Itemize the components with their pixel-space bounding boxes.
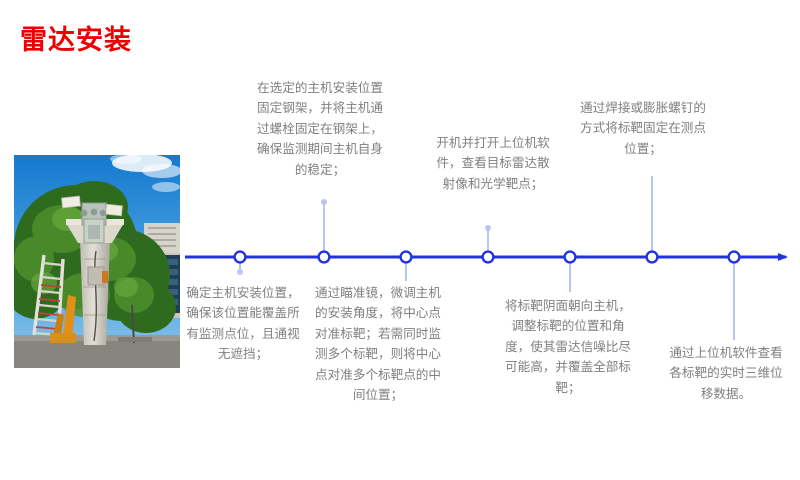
timeline-node-7 <box>729 252 740 263</box>
timeline-node-5 <box>565 252 576 263</box>
stem-dot-step-1 <box>237 269 243 275</box>
timeline-node-2 <box>319 252 330 263</box>
timeline-node-3 <box>401 252 412 263</box>
timeline-node-1 <box>235 252 246 263</box>
photo-artwork <box>14 155 180 368</box>
step-text-7: 通过上位机软件查看各标靶的实时三维位移数据。 <box>664 343 788 404</box>
stem-dot-step-2 <box>321 199 327 205</box>
radar-installation-photo <box>14 155 180 368</box>
slide-canvas: 雷达安装 <box>0 0 800 480</box>
timeline-nodes <box>235 252 740 263</box>
step-text-2: 在选定的主机安装位置固定钢架，并将主机通过螺栓固定在钢架上，确保监测期间主机自身… <box>256 78 384 180</box>
timeline-stem-dots <box>237 199 491 275</box>
timeline-node-6 <box>647 252 658 263</box>
timeline-node-4 <box>483 252 494 263</box>
stem-dot-step-4 <box>485 225 491 231</box>
step-text-5: 将标靶阴面朝向主机，调整标靶的位置和角度，使其雷达信噪比尽可能高，并覆盖全部标靶… <box>504 296 632 398</box>
step-text-3: 通过瞄准镜，微调主机的安装角度，将中心点对准标靶；若需同时监测多个标靶，则将中心… <box>312 283 444 405</box>
step-text-1: 确定主机安装位置，确保该位置能覆盖所有监测点位，且通视无遮挡； <box>182 283 304 365</box>
step-text-4: 开机并打开上位机软件，查看目标雷达散射像和光学靶点； <box>432 133 554 194</box>
page-title: 雷达安装 <box>20 26 132 56</box>
step-text-6: 通过焊接或膨胀螺钉的方式将标靶固定在测点位置； <box>578 98 708 159</box>
